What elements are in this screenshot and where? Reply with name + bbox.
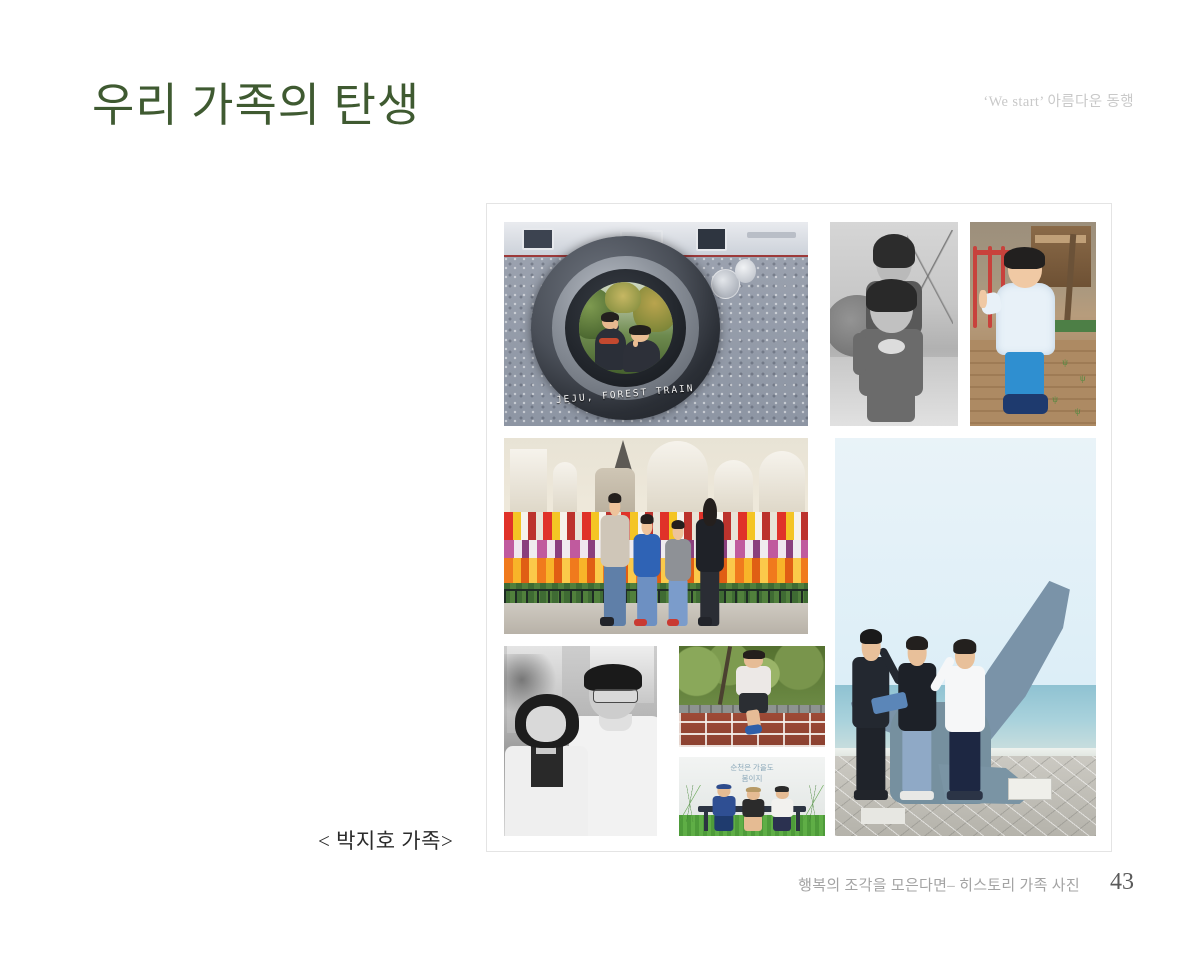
bw-couple-woman [507, 699, 587, 836]
toddler-figure [998, 251, 1053, 414]
sculpture-plaque [1008, 778, 1052, 800]
photo-collage-frame: JEJU, FOREST TRAIN [486, 203, 1112, 852]
whale-tail-scene [835, 438, 1096, 836]
boy-figure [737, 652, 769, 735]
page-title: 우리 가족의 탄생 [92, 78, 420, 133]
photo-whale-tail[interactable] [835, 438, 1096, 836]
photo-bench-family[interactable]: 순천은 가을도봄이지 [679, 757, 825, 836]
photo-tulip-family[interactable] [504, 438, 808, 634]
camera-lens-inner-ring [565, 269, 686, 386]
ground-plate [861, 808, 905, 824]
child-figure-front [623, 326, 661, 372]
camera-lens-outer: JEJU, FOREST TRAIN [531, 236, 719, 420]
toddler-playground-scene: ψψ ψψ [970, 222, 1096, 426]
jeju-camera-scene: JEJU, FOREST TRAIN [504, 222, 808, 426]
footer-text: 행복의 조각을 모은다면– 히스토리 가족 사진 [798, 874, 1080, 895]
bench-family-scene: 순천은 가을도봄이지 [679, 757, 825, 836]
bw-couple-scene [504, 646, 657, 836]
photo-boy-brickwall[interactable] [679, 646, 825, 747]
camera-lens-opening [579, 282, 673, 374]
camera-body: JEJU, FOREST TRAIN [504, 222, 808, 426]
whale-photo-figures [851, 625, 987, 800]
tulip-family-scene [504, 438, 808, 634]
bench-family-figures [711, 785, 796, 831]
bw-child-front [858, 283, 925, 422]
family-caption: < 박지호 가족> [318, 825, 453, 855]
bw-siblings-scene [830, 222, 958, 426]
camera-lens-ring [552, 256, 699, 399]
brickwall-scene [679, 646, 825, 747]
photo-toddler-playground[interactable]: ψψ ψψ [970, 222, 1096, 426]
page-number: 43 [1110, 869, 1134, 896]
photo-jeju-camera[interactable]: JEJU, FOREST TRAIN [504, 222, 808, 426]
photo-bw-siblings[interactable] [830, 222, 958, 426]
photo-bw-couple[interactable] [504, 646, 657, 836]
tulip-family-figures [595, 497, 735, 626]
header-tagline: ‘We start’ 아름다운 동행 [983, 90, 1134, 111]
photo-collage-grid: JEJU, FOREST TRAIN [504, 222, 1096, 836]
